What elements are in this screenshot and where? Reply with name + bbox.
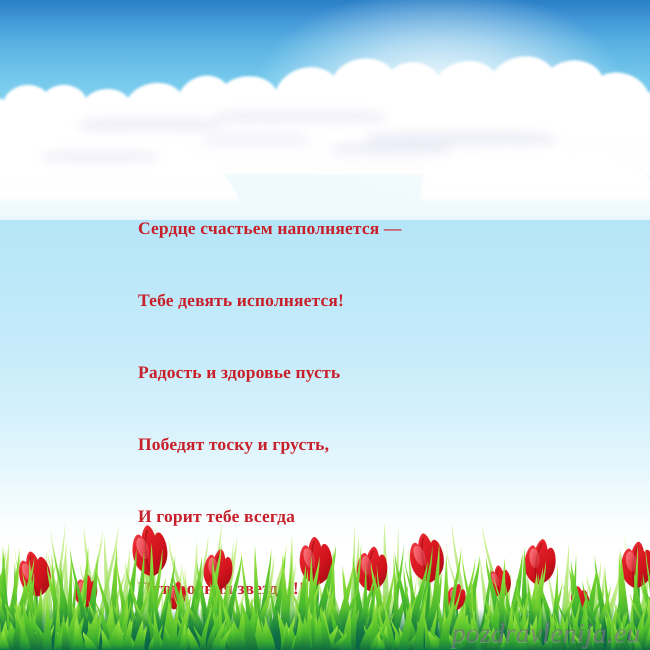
tulip-flower bbox=[522, 537, 558, 586]
tulip-petals bbox=[522, 537, 558, 586]
poem-line-2: Тебе девять исполняется! bbox=[138, 288, 402, 312]
poem-line-4: Победят тоску и грусть, bbox=[138, 432, 402, 456]
poem-line-1: Сердце счастьем наполняется — bbox=[138, 216, 402, 240]
meadow-grass-with-tulips bbox=[0, 500, 650, 650]
poem-line-3: Радость и здоровье пусть bbox=[138, 360, 402, 384]
greeting-card: Сердце счастьем наполняется — Тебе девят… bbox=[0, 0, 650, 650]
